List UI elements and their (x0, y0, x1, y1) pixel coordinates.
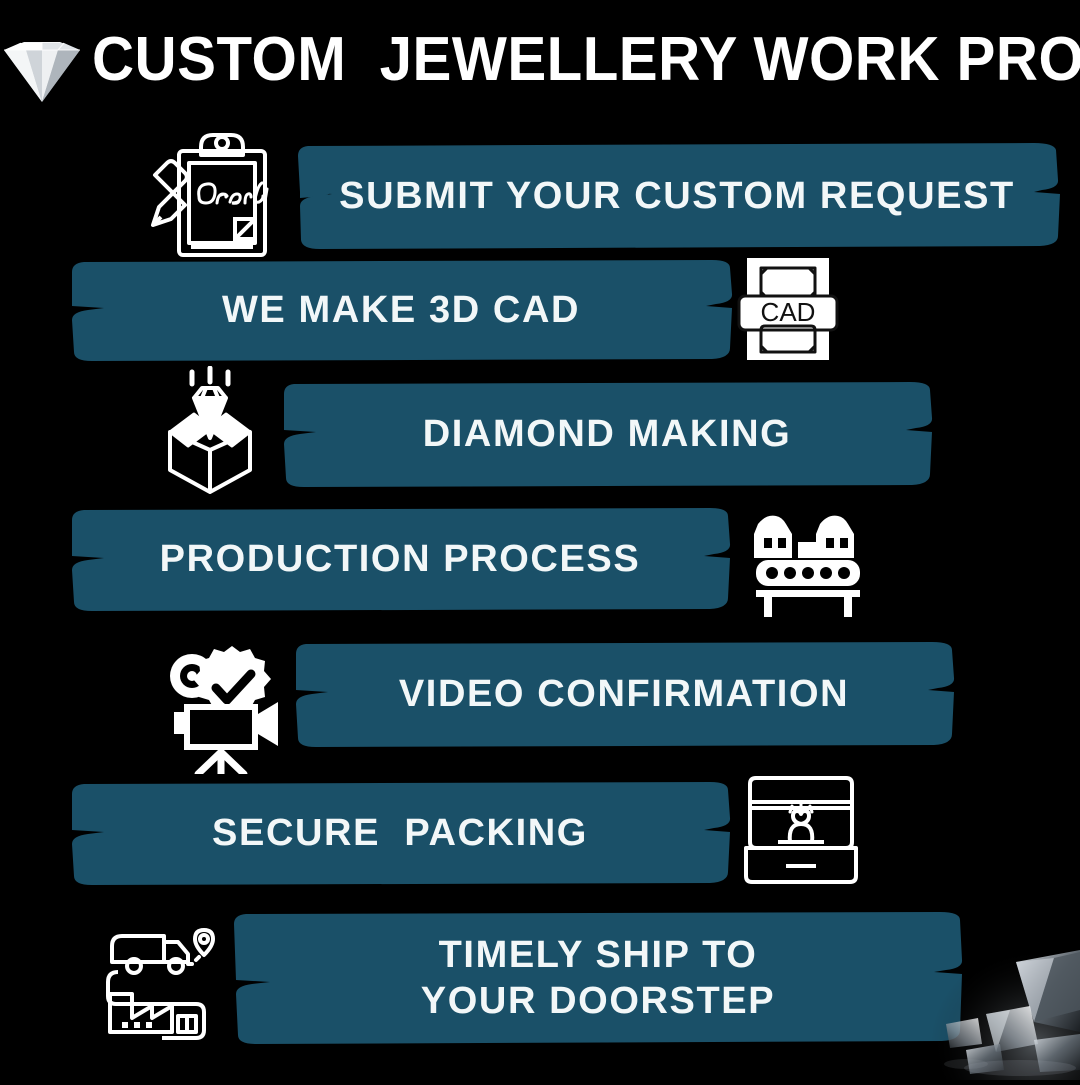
step-row-3: DIAMOND MAKING (0, 378, 1080, 490)
step-row-6: SECURE PACKING (0, 778, 1080, 888)
diamond-in-box-icon (150, 366, 272, 498)
step-banner-1[interactable] (292, 140, 1062, 252)
step-row-4: PRODUCTION PROCESS (0, 504, 1080, 614)
video-camera-check-icon (160, 642, 290, 774)
step-row-5: VIDEO CONFIRMATION (0, 638, 1080, 750)
step-banner-4[interactable] (66, 504, 734, 614)
step-row-2: WE MAKE 3D CAD CAD (0, 256, 1080, 364)
page-title: CUSTOM JEWELLERY WORK PROCESS (92, 26, 1009, 94)
conveyor-machine-icon (748, 512, 868, 618)
cad-printer-icon: CAD (735, 256, 841, 362)
clipboard-order-icon (135, 131, 280, 261)
page-header: CUSTOM JEWELLERY WORK PROCESS (0, 0, 1080, 122)
step-banner-6[interactable] (66, 778, 734, 888)
step-banner-3[interactable] (278, 378, 936, 490)
step-banner-2[interactable] (66, 256, 736, 364)
step-banner-7[interactable] (228, 908, 968, 1048)
ring-box-icon (740, 772, 862, 890)
diamond-icon (0, 22, 88, 106)
cad-icon-caption: CAD (761, 297, 816, 327)
step-banner-5[interactable] (290, 638, 958, 750)
step-row-7: TIMELY SHIP TO YOUR DOORSTEP (0, 908, 1080, 1048)
truck-factory-route-icon (100, 916, 228, 1040)
step-row-1: SUBMIT YOUR CUSTOM REQUEST (0, 140, 1080, 252)
